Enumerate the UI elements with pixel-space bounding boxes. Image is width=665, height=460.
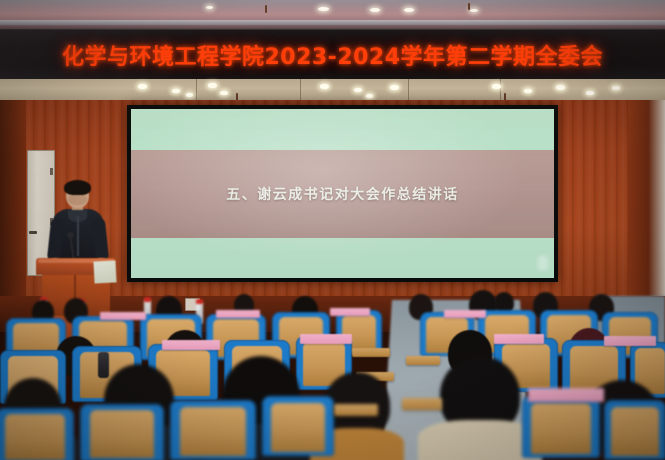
recessed-downlight xyxy=(586,91,594,95)
ceiling-light xyxy=(370,8,380,12)
recessed-downlight xyxy=(390,85,399,90)
projected-slide: 五、谢云成书记对大会作总结讲话 xyxy=(131,109,554,278)
ceiling-light xyxy=(206,6,213,9)
ceiling-rail xyxy=(0,20,665,25)
ceiling-light xyxy=(404,8,414,12)
attendee xyxy=(430,356,530,460)
door-handle[interactable] xyxy=(29,231,37,234)
microphone-icon xyxy=(67,232,74,238)
recessed-downlight xyxy=(320,84,329,89)
ceiling-light xyxy=(470,9,478,12)
speaker-face xyxy=(68,194,87,205)
ceiling-fixture-stem xyxy=(468,3,470,10)
screen-reflection xyxy=(538,256,548,270)
projection-screen: 五、谢云成书记对大会作总结讲话 xyxy=(127,105,558,282)
door-hinge xyxy=(50,168,53,175)
fold-down-desk[interactable] xyxy=(352,348,390,357)
bottle-cap xyxy=(196,299,203,304)
meeting-handout xyxy=(162,340,220,350)
meeting-photograph: 化学与环境工程学院2023-2024学年第二学期全委会 五、 xyxy=(0,0,665,460)
fold-down-desk[interactable] xyxy=(334,404,378,416)
meeting-handout xyxy=(444,310,486,318)
recessed-downlight xyxy=(354,88,362,92)
recessed-downlight xyxy=(186,93,193,97)
meeting-handout xyxy=(528,388,604,402)
ceiling-light xyxy=(318,7,329,11)
recessed-downlight xyxy=(492,84,501,89)
recessed-downlight xyxy=(612,86,620,90)
led-banner-text: 化学与环境工程学院2023-2024学年第二学期全委会 xyxy=(0,30,665,80)
fold-down-desk[interactable] xyxy=(402,398,442,410)
meeting-handout xyxy=(300,334,352,344)
speech-document xyxy=(93,260,116,283)
recessed-downlight xyxy=(366,94,373,98)
auditorium-seat[interactable] xyxy=(604,400,665,460)
recessed-downlight xyxy=(172,89,180,93)
led-banner: 化学与环境工程学院2023-2024学年第二学期全委会 xyxy=(0,29,665,81)
recessed-downlight xyxy=(220,91,228,95)
meeting-handout xyxy=(330,308,370,316)
slide-agenda-text: 五、谢云成书记对大会作总结讲话 xyxy=(131,150,554,238)
meeting-handout xyxy=(604,336,656,346)
speaker-zipper xyxy=(77,216,79,256)
ceiling-fixture-stem xyxy=(265,5,267,13)
recessed-downlight xyxy=(138,84,147,89)
bottle-cap xyxy=(144,297,151,302)
speaker-hair xyxy=(64,180,91,195)
recessed-downlight xyxy=(208,83,217,88)
recessed-downlight xyxy=(524,89,532,93)
meeting-handout xyxy=(100,312,146,320)
meeting-handout xyxy=(216,310,260,318)
recessed-downlight xyxy=(556,85,565,90)
meeting-handout xyxy=(494,334,544,344)
auditorium-seat[interactable] xyxy=(80,404,164,460)
ceiling xyxy=(0,0,665,30)
auditorium-seat[interactable] xyxy=(262,396,334,456)
auditorium-seat[interactable] xyxy=(522,396,600,458)
auditorium-seat[interactable] xyxy=(0,408,74,460)
auditorium-seat[interactable] xyxy=(170,400,256,460)
